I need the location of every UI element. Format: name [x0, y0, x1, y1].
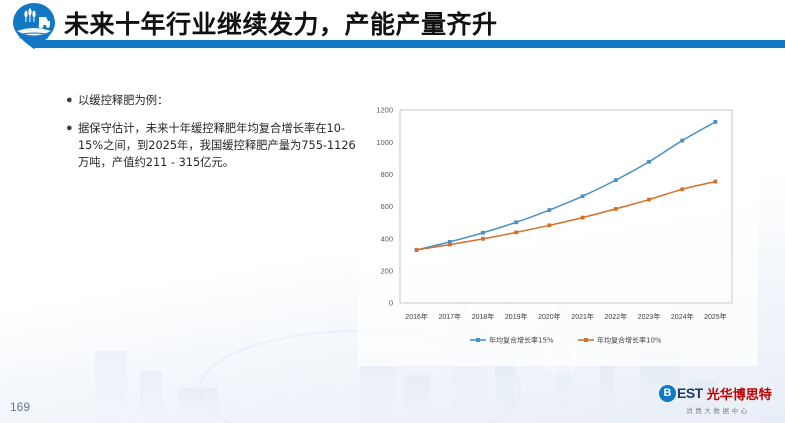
page-title: 未来十年行业继续发力，产能产量齐升	[64, 5, 498, 41]
data-point-marker	[481, 231, 485, 235]
x-axis-tick-label: 2019年	[505, 312, 528, 321]
data-point-marker	[514, 220, 518, 224]
series-line	[417, 182, 716, 250]
legend-marker	[584, 338, 588, 342]
list-item: ● 据保守估计，未来十年缓控释肥年均复合增长率在10-15%之间，到2025年，…	[66, 120, 356, 171]
data-point-marker	[714, 120, 718, 124]
x-axis-tick-label: 2023年	[638, 312, 661, 321]
y-axis-tick-label: 1000	[376, 138, 393, 147]
y-axis-tick-label: 1200	[376, 106, 393, 115]
page-number: 169	[10, 400, 30, 414]
legend-label: 年均复合增长率10%	[597, 336, 662, 345]
data-point-marker	[481, 237, 485, 241]
growth-forecast-chart: 0200400600800100012002016年2017年2018年2019…	[358, 88, 758, 366]
data-point-marker	[415, 248, 419, 252]
bullet-dot-icon: ●	[66, 92, 78, 109]
series-line	[417, 122, 716, 250]
y-axis-tick-label: 800	[380, 170, 393, 179]
data-point-marker	[714, 180, 718, 184]
x-axis-tick-label: 2017年	[439, 312, 462, 321]
data-point-marker	[548, 208, 552, 212]
data-point-marker	[514, 230, 518, 234]
x-axis-tick-label: 2016年	[405, 312, 428, 321]
bullet-text: 据保守估计，未来十年缓控释肥年均复合增长率在10-15%之间，到2025年，我国…	[78, 120, 356, 171]
bullet-list: ● 以缓控释肥为例： ● 据保守估计，未来十年缓控释肥年均复合增长率在10-15…	[66, 92, 356, 182]
bullet-text: 以缓控释肥为例：	[78, 92, 356, 109]
y-axis-tick-label: 400	[380, 234, 393, 243]
data-point-marker	[581, 194, 585, 198]
legend-label: 年均复合增长率15%	[489, 336, 554, 345]
brand-chinese-name: 光华博思特	[707, 384, 772, 403]
x-axis-tick-label: 2024年	[671, 312, 694, 321]
brand-logo: B EST 光华博思特 消费大数据中心	[659, 383, 777, 417]
data-point-marker	[448, 243, 452, 247]
data-point-marker	[581, 216, 585, 220]
brand-subtitle: 消费大数据中心	[659, 405, 777, 415]
data-point-marker	[680, 187, 684, 191]
data-point-marker	[647, 198, 651, 202]
data-point-marker	[680, 139, 684, 143]
data-point-marker	[614, 178, 618, 182]
x-axis-tick-label: 2018年	[472, 312, 495, 321]
y-axis-tick-label: 600	[380, 202, 393, 211]
brand-latin-name: EST	[677, 385, 703, 401]
x-axis-tick-label: 2020年	[538, 312, 561, 321]
brand-mark-icon: B	[659, 385, 676, 402]
legend-marker	[476, 338, 480, 342]
x-axis-tick-label: 2025年	[704, 312, 727, 321]
y-axis-tick-label: 0	[389, 299, 393, 308]
title-underline-rule	[32, 40, 785, 48]
x-axis-tick-label: 2022年	[605, 312, 628, 321]
slide-header: 未来十年行业继续发力，产能产量齐升	[0, 0, 785, 52]
data-point-marker	[647, 160, 651, 164]
list-item: ● 以缓控释肥为例：	[66, 92, 356, 109]
x-axis-tick-label: 2021年	[571, 312, 594, 321]
data-point-marker	[614, 207, 618, 211]
data-point-marker	[548, 223, 552, 227]
y-axis-tick-label: 200	[380, 266, 393, 275]
bullet-dot-icon: ●	[66, 120, 78, 137]
